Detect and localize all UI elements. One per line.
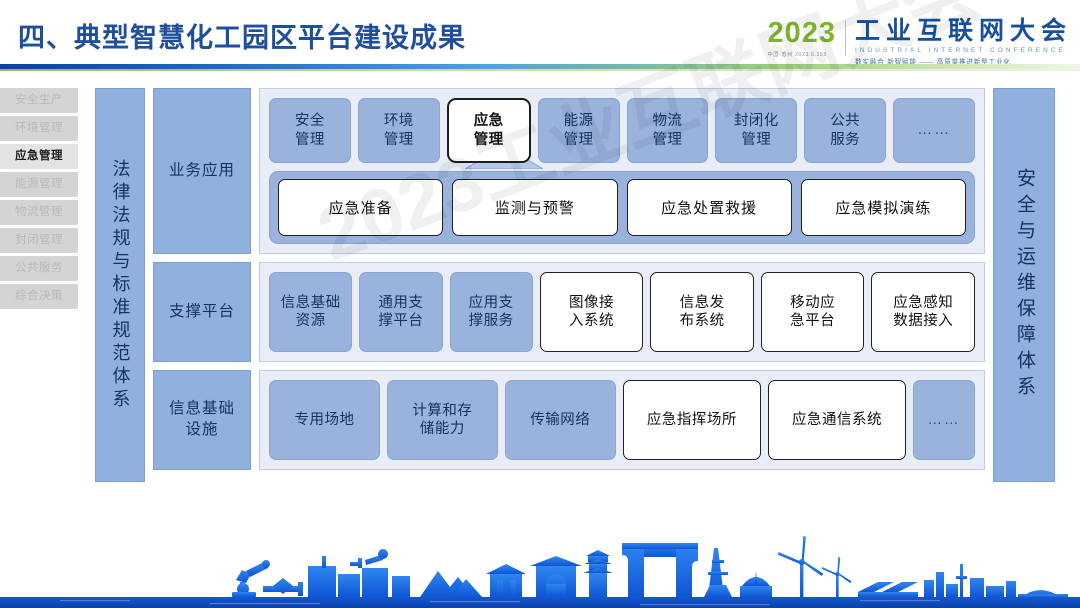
logo-year: 2023 xyxy=(767,18,836,48)
layer-3-item-0[interactable]: 专用场地 xyxy=(269,380,380,460)
emergency-subprocess-1[interactable]: 监测与预警 xyxy=(452,179,617,236)
module-tab-4[interactable]: 物流管理 xyxy=(0,200,78,225)
module-tab-2[interactable]: 应急管理 xyxy=(0,144,78,169)
layer-1-item-7[interactable]: …… xyxy=(893,98,975,163)
module-tab-3[interactable]: 能源管理 xyxy=(0,172,78,197)
footer-skyline xyxy=(0,518,1080,608)
module-tab-5[interactable]: 封闭管理 xyxy=(0,228,78,253)
conference-logo: 2023 中国·苏州 2023.6.158 工业互联网大会 INDUSTRIAL… xyxy=(767,18,1072,68)
layer-1-body: 安全管理环境管理应急管理能源管理物流管理封闭化管理公共服务……应急准备监测与预警… xyxy=(259,88,985,254)
emergency-subprocess-2[interactable]: 应急处置救援 xyxy=(627,179,792,236)
layer-3: 信息基础设施专用场地计算和存储能力传输网络应急指挥场所应急通信系统…… xyxy=(153,370,985,470)
emergency-subprocess-bar: 应急准备监测与预警应急处置救援应急模拟演练 xyxy=(269,171,975,244)
layer-2: 支撑平台信息基础资源通用支撑平台应用支撑服务图像接入系统信息发布系统移动应急平台… xyxy=(153,262,985,362)
layer-2-body: 信息基础资源通用支撑平台应用支撑服务图像接入系统信息发布系统移动应急平台应急感知… xyxy=(259,262,985,362)
logo-divider xyxy=(845,20,846,56)
logo-year-block: 2023 中国·苏州 2023.6.158 xyxy=(767,18,836,58)
module-tab-6[interactable]: 公共服务 xyxy=(0,256,78,281)
pillar-right-security-ops: 安全与运维保障体系 xyxy=(993,88,1055,482)
layer-2-label: 支撑平台 xyxy=(153,262,251,362)
layer-1-item-6[interactable]: 公共服务 xyxy=(804,98,886,163)
layer-3-item-1[interactable]: 计算和存储能力 xyxy=(387,380,498,460)
logo-name-block: 工业互联网大会 INDUSTRIAL INTERNET CONFERENCE 数… xyxy=(855,18,1072,66)
pillar-right-label: 安全与运维保障体系 xyxy=(1014,168,1034,402)
layer-2-row-1: 信息基础资源通用支撑平台应用支撑服务图像接入系统信息发布系统移动应急平台应急感知… xyxy=(269,272,975,352)
architecture-diagram: 法律法规与标准规范体系 业务应用安全管理环境管理应急管理能源管理物流管理封闭化管… xyxy=(95,88,1055,482)
layer-1: 业务应用安全管理环境管理应急管理能源管理物流管理封闭化管理公共服务……应急准备监… xyxy=(153,88,985,254)
module-tab-strip: 安全生产环境管理应急管理能源管理物流管理封闭管理公共服务综合决策 xyxy=(0,88,78,309)
module-tab-1[interactable]: 环境管理 xyxy=(0,116,78,141)
layer-2-item-1[interactable]: 通用支撑平台 xyxy=(359,272,442,352)
layer-1-item-0[interactable]: 安全管理 xyxy=(269,98,351,163)
layer-3-item-2[interactable]: 传输网络 xyxy=(505,380,616,460)
emergency-subprocess-3[interactable]: 应急模拟演练 xyxy=(801,179,966,236)
layer-2-item-0[interactable]: 信息基础资源 xyxy=(269,272,352,352)
emergency-subprocess-0[interactable]: 应急准备 xyxy=(278,179,443,236)
layer-3-row-1: 专用场地计算和存储能力传输网络应急指挥场所应急通信系统…… xyxy=(269,380,975,460)
architecture-layers: 业务应用安全管理环境管理应急管理能源管理物流管理封闭化管理公共服务……应急准备监… xyxy=(153,88,985,482)
module-tab-7[interactable]: 综合决策 xyxy=(0,284,78,309)
layer-1-item-5[interactable]: 封闭化管理 xyxy=(715,98,797,163)
layer-1-item-4[interactable]: 物流管理 xyxy=(627,98,709,163)
layer-2-item-5[interactable]: 移动应急平台 xyxy=(761,272,865,352)
logo-chinese-name: 工业互联网大会 xyxy=(855,18,1072,45)
layer-3-item-4[interactable]: 应急通信系统 xyxy=(768,380,906,460)
layer-1-row-2: 应急准备监测与预警应急处置救援应急模拟演练 xyxy=(269,171,975,244)
logo-year-subtext: 中国·苏州 2023.6.158 xyxy=(767,51,836,58)
layer-1-item-2[interactable]: 应急管理 xyxy=(447,98,531,163)
layer-2-item-6[interactable]: 应急感知数据接入 xyxy=(871,272,975,352)
layer-2-item-2[interactable]: 应用支撑服务 xyxy=(450,272,533,352)
city-silhouette xyxy=(232,536,1068,598)
layer-1-row-1: 安全管理环境管理应急管理能源管理物流管理封闭化管理公共服务…… xyxy=(269,98,975,163)
header-divider-accent xyxy=(0,69,1080,71)
sea-band xyxy=(0,597,1080,608)
layer-2-item-4[interactable]: 信息发布系统 xyxy=(650,272,754,352)
layer-1-label: 业务应用 xyxy=(153,88,251,254)
module-tab-0[interactable]: 安全生产 xyxy=(0,88,78,113)
layer-1-item-3[interactable]: 能源管理 xyxy=(538,98,620,163)
layer-1-item-1[interactable]: 环境管理 xyxy=(358,98,440,163)
page-title: 四、典型智慧化工园区平台建设成果 xyxy=(18,16,466,55)
layer-3-item-3[interactable]: 应急指挥场所 xyxy=(623,380,761,460)
pillar-left-legal-standards: 法律法规与标准规范体系 xyxy=(95,88,145,482)
layer-2-item-3[interactable]: 图像接入系统 xyxy=(540,272,644,352)
layer-3-label: 信息基础设施 xyxy=(153,370,251,470)
layer-3-item-5[interactable]: …… xyxy=(913,380,975,460)
layer-3-body: 专用场地计算和存储能力传输网络应急指挥场所应急通信系统…… xyxy=(259,370,985,470)
pillar-left-label: 法律法规与标准规范体系 xyxy=(111,159,130,412)
logo-english-name: INDUSTRIAL INTERNET CONFERENCE xyxy=(855,47,1072,54)
